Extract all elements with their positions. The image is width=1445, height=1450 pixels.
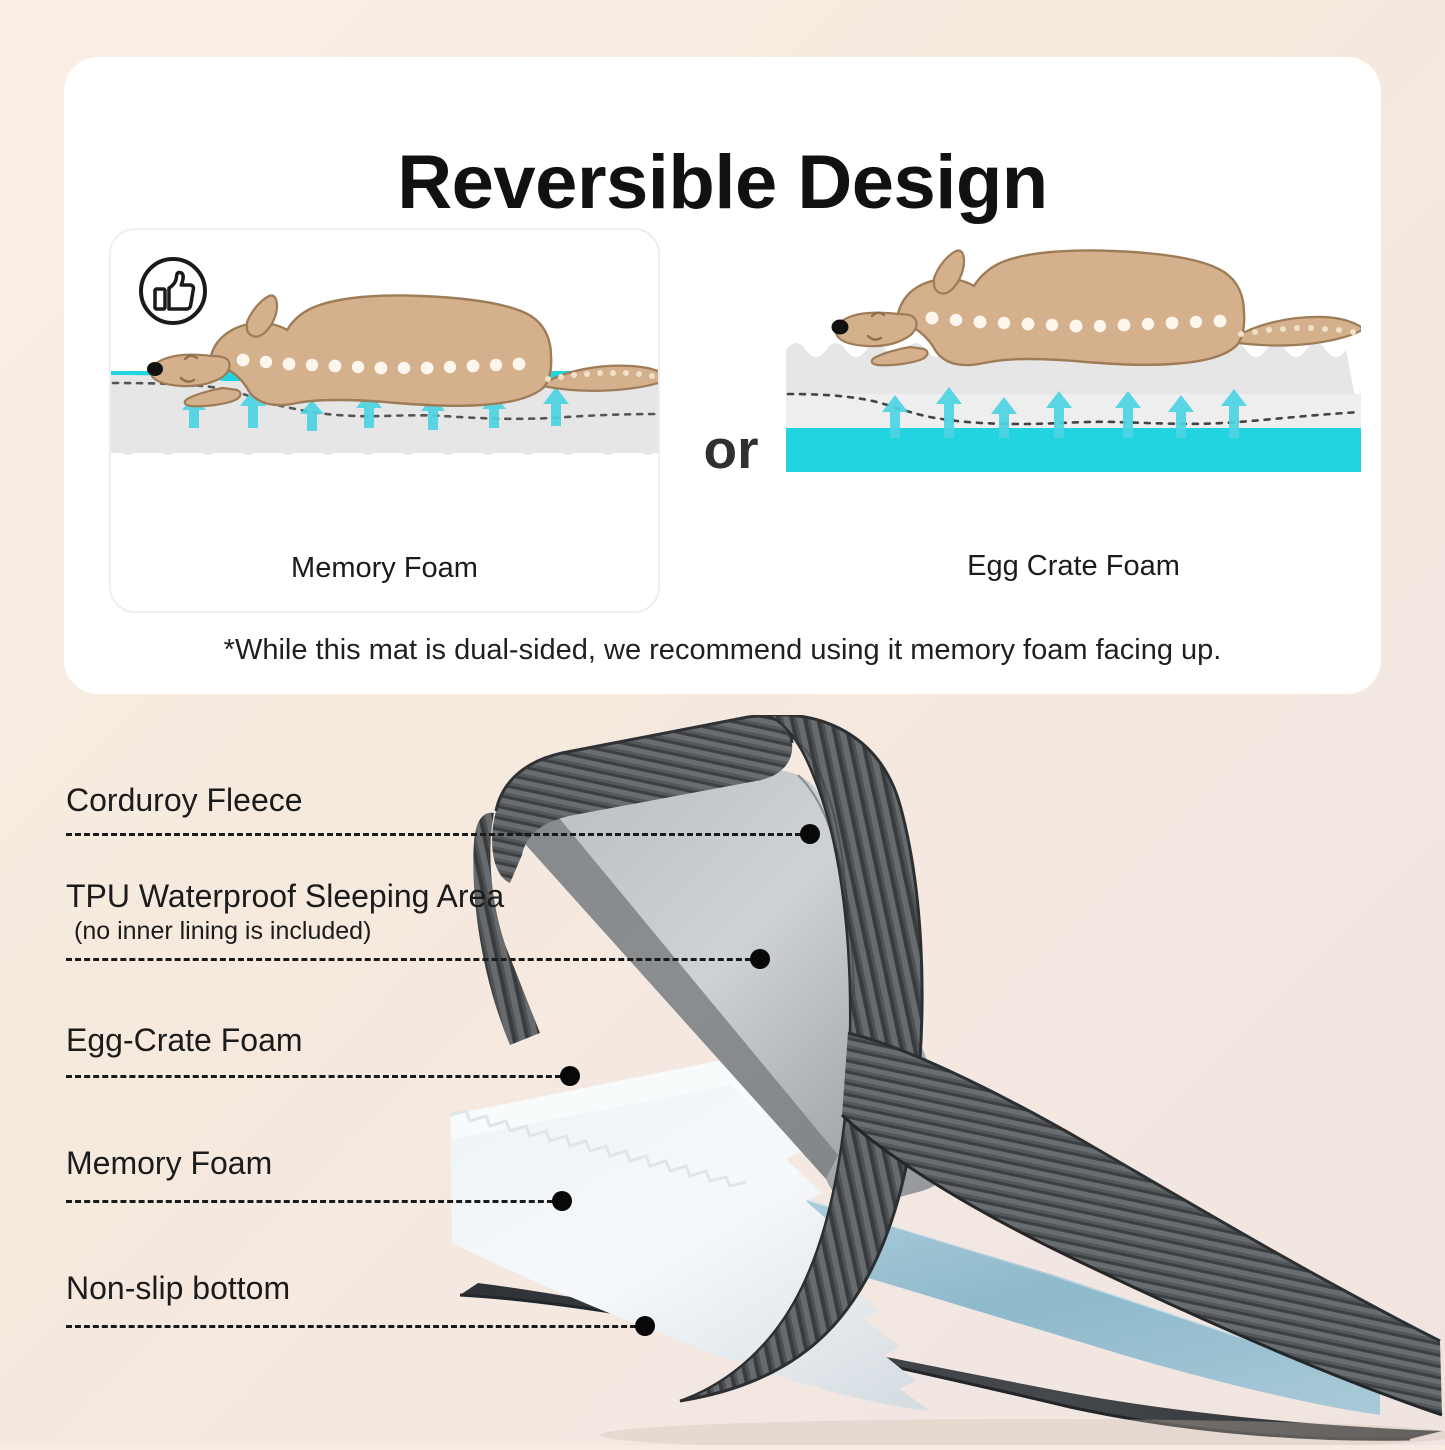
label-row-memory-foam: Memory Foam <box>66 1145 272 1183</box>
reversible-design-card: Reversible Design <box>64 57 1381 694</box>
label-title: TPU Waterproof Sleeping Area <box>66 878 504 916</box>
label-title: Memory Foam <box>66 1145 272 1183</box>
label-row-non-slip-bottom: Non-slip bottom <box>66 1270 290 1308</box>
label-title: Egg-Crate Foam <box>66 1022 303 1060</box>
infographic-root: Reversible Design <box>0 0 1445 1445</box>
leader-line-tpu-waterproof <box>66 958 760 961</box>
panel-caption-memory-foam: Memory Foam <box>111 552 658 585</box>
layer-labels: Corduroy Fleece TPU Waterproof Sleeping … <box>0 700 1445 1445</box>
reversible-footnote: *While this mat is dual-sided, we recomm… <box>64 634 1381 667</box>
label-row-egg-crate-foam: Egg-Crate Foam <box>66 1022 303 1060</box>
leader-line-memory-foam <box>66 1200 562 1203</box>
panel-caption-egg-crate-foam: Egg Crate Foam <box>786 550 1361 583</box>
dog-illustration <box>147 295 658 406</box>
label-subtitle: (no inner lining is included) <box>66 916 504 946</box>
leader-line-non-slip-bottom <box>66 1325 645 1328</box>
label-row-corduroy-fleece: Corduroy Fleece <box>66 782 303 820</box>
leader-dot-egg-crate-foam <box>560 1066 580 1086</box>
leader-dot-non-slip-bottom <box>635 1316 655 1336</box>
egg-crate-foam-illustration <box>786 246 1361 576</box>
memory-foam-illustration <box>111 248 658 578</box>
page-title: Reversible Design <box>64 145 1381 221</box>
leader-line-corduroy-fleece <box>66 833 810 836</box>
panel-egg-crate-foam: Egg Crate Foam <box>786 228 1361 609</box>
leader-dot-tpu-waterproof <box>750 949 770 969</box>
leader-line-egg-crate-foam <box>66 1075 570 1078</box>
leader-dot-memory-foam <box>552 1191 572 1211</box>
or-separator: or <box>676 417 786 481</box>
label-row-tpu-waterproof: TPU Waterproof Sleeping Area (no inner l… <box>66 878 504 946</box>
label-title: Corduroy Fleece <box>66 782 303 820</box>
leader-dot-corduroy-fleece <box>800 824 820 844</box>
panel-memory-foam: Memory Foam <box>109 228 660 613</box>
label-title: Non-slip bottom <box>66 1270 290 1308</box>
